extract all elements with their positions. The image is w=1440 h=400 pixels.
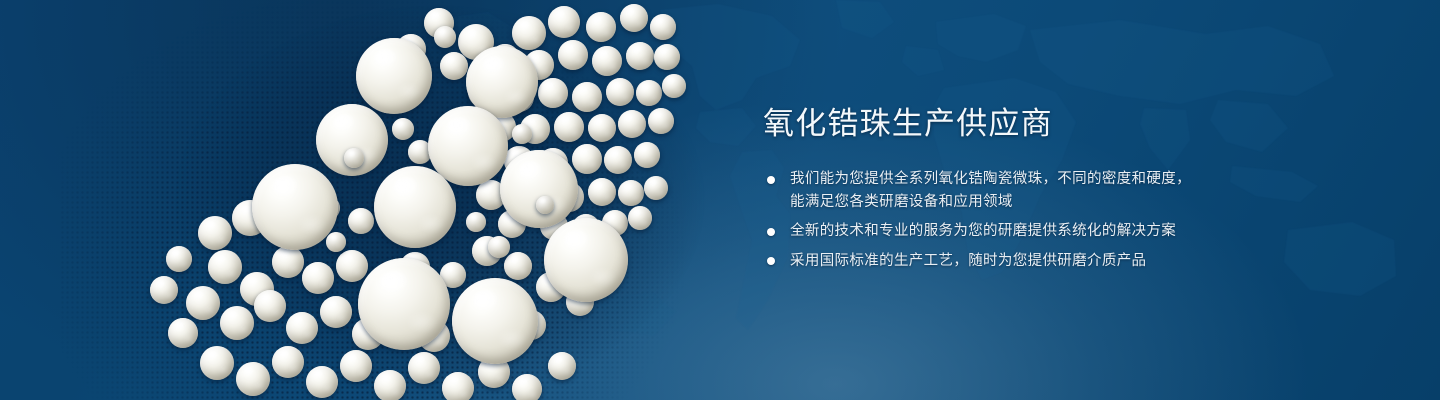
feature-list: 我们能为您提供全系列氧化锆陶瓷微珠，不同的密度和硬度， 能满足您各类研磨设备和应… — [763, 168, 1233, 272]
list-item-line: 能满足您各类研磨设备和应用领域 — [790, 191, 1233, 214]
list-item: 我们能为您提供全系列氧化锆陶瓷微珠，不同的密度和硬度， 能满足您各类研磨设备和应… — [763, 168, 1233, 213]
hero-copy: 氧化锆珠生产供应商 我们能为您提供全系列氧化锆陶瓷微珠，不同的密度和硬度， 能满… — [763, 104, 1233, 272]
list-item-line: 全新的技术和专业的服务为您的研磨提供系统化的解决方案 — [790, 220, 1233, 243]
list-item-line: 采用国际标准的生产工艺，随时为您提供研磨介质产品 — [790, 250, 1233, 273]
list-item: 采用国际标准的生产工艺，随时为您提供研磨介质产品 — [763, 250, 1233, 273]
list-item: 全新的技术和专业的服务为您的研磨提供系统化的解决方案 — [763, 220, 1233, 243]
bullet-dot-icon — [767, 176, 775, 184]
bullet-dot-icon — [767, 257, 775, 265]
hero-banner: 氧化锆珠生产供应商 我们能为您提供全系列氧化锆陶瓷微珠，不同的密度和硬度， 能满… — [0, 0, 1440, 400]
page-title: 氧化锆珠生产供应商 — [763, 104, 1233, 144]
bullet-dot-icon — [767, 228, 775, 236]
list-item-line: 我们能为您提供全系列氧化锆陶瓷微珠，不同的密度和硬度， — [790, 168, 1233, 191]
